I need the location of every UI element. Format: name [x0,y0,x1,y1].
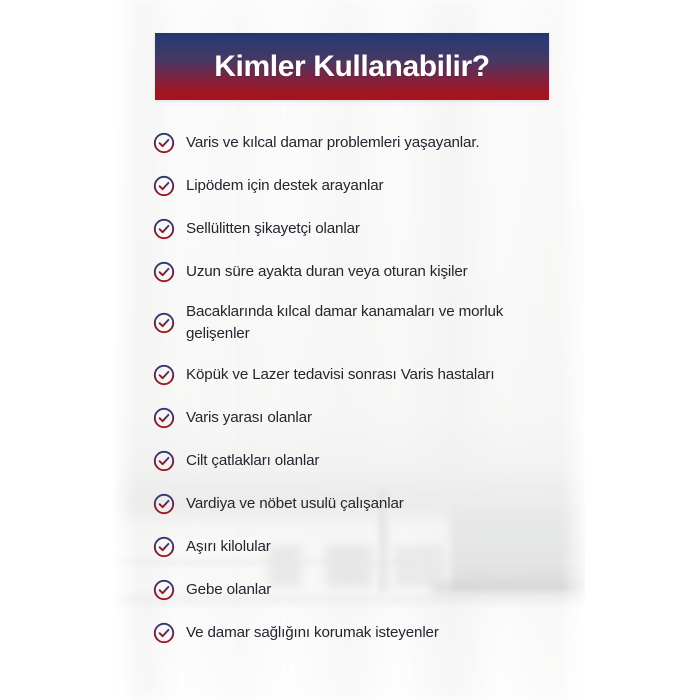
list-item-label: Bacaklarında kılcal damar kanamaları ve … [186,301,538,344]
check-circle-icon [153,312,175,334]
list-item: Varis yarası olanlar [153,401,553,435]
benefits-checklist: Varis ve kılcal damar problemleri yaşaya… [153,126,553,659]
check-circle-icon [153,364,175,386]
list-item: Vardiya ve nöbet usulü çalışanlar [153,487,553,521]
check-circle-icon [153,536,175,558]
list-item: Aşırı kilolular [153,530,553,564]
list-item: Gebe olanlar [153,573,553,607]
list-item-label: Lipödem için destek arayanlar [186,175,383,197]
list-item: Ve damar sağlığını korumak isteyenler [153,616,553,650]
list-item-label: Köpük ve Lazer tedavisi sonrası Varis ha… [186,364,494,386]
check-circle-icon [153,407,175,429]
page-title: Kimler Kullanabilir? [214,52,489,82]
check-circle-icon [153,175,175,197]
check-circle-icon [153,622,175,644]
list-item: Köpük ve Lazer tedavisi sonrası Varis ha… [153,358,553,392]
list-item-label: Vardiya ve nöbet usulü çalışanlar [186,493,404,515]
list-item-label: Aşırı kilolular [186,536,271,558]
check-circle-icon [153,493,175,515]
list-item-label: Cilt çatlakları olanlar [186,450,319,472]
list-item: Sellülitten şikayetçi olanlar [153,212,553,246]
list-item: Lipödem için destek arayanlar [153,169,553,203]
list-item: Varis ve kılcal damar problemleri yaşaya… [153,126,553,160]
infographic-canvas: Kimler Kullanabilir? [0,0,700,700]
check-circle-icon [153,450,175,472]
list-item-label: Gebe olanlar [186,579,271,601]
list-item: Uzun süre ayakta duran veya oturan kişil… [153,255,553,289]
list-item-label: Uzun süre ayakta duran veya oturan kişil… [186,261,468,283]
title-banner: Kimler Kullanabilir? [155,33,549,100]
check-circle-icon [153,579,175,601]
list-item: Bacaklarında kılcal damar kanamaları ve … [153,298,553,348]
infographic-content: Kimler Kullanabilir? [0,0,700,700]
list-item-label: Ve damar sağlığını korumak isteyenler [186,622,439,644]
list-item-label: Varis ve kılcal damar problemleri yaşaya… [186,132,479,154]
list-item-label: Sellülitten şikayetçi olanlar [186,218,360,240]
check-circle-icon [153,261,175,283]
check-circle-icon [153,132,175,154]
list-item: Cilt çatlakları olanlar [153,444,553,478]
check-circle-icon [153,218,175,240]
list-item-label: Varis yarası olanlar [186,407,312,429]
